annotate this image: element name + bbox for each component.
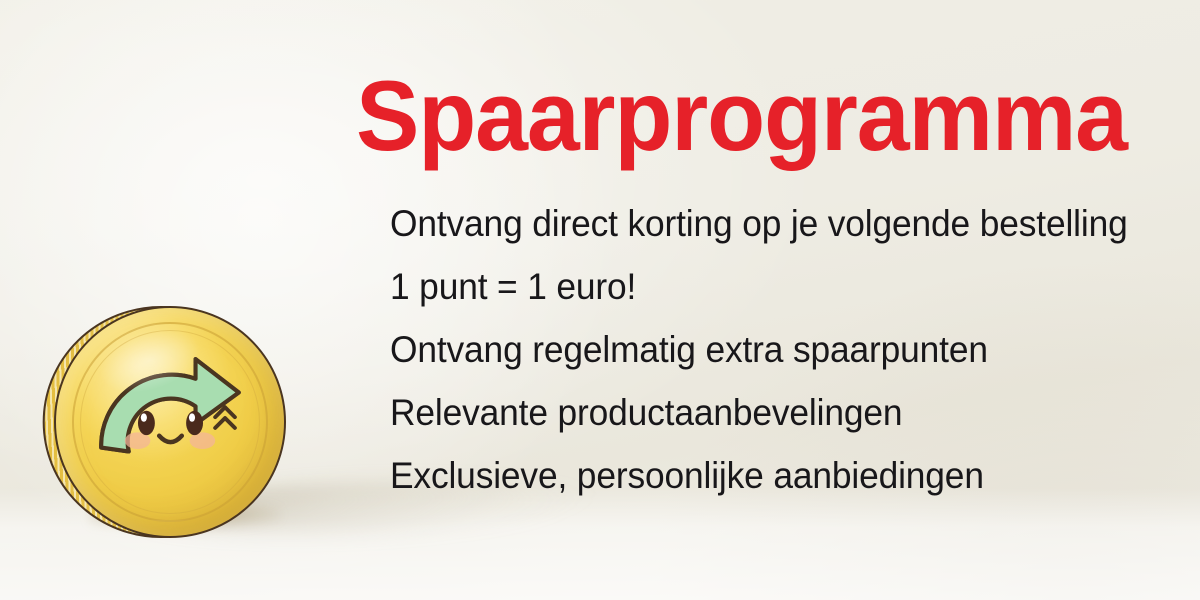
coin-face-right-eye [186,411,203,435]
list-item: 1 punt = 1 euro! [390,255,1144,318]
benefits-list: Ontvang direct korting op je volgende be… [390,192,1180,507]
list-item: Ontvang direct korting op je volgende be… [390,192,1144,255]
coin-illustration [46,300,296,545]
promo-banner: Spaarprogramma Ontvang direct korting op… [0,0,1200,600]
list-item: Ontvang regelmatig extra spaarpunten [390,318,1144,381]
page-title: Spaarprogramma [356,66,1127,165]
recycle-arrow-lower [101,359,239,451]
coin [54,306,286,538]
list-item: Exclusieve, persoonlijke aanbiedingen [390,444,1144,507]
coin-face-left-eye [138,411,155,435]
coin-artwork [56,308,284,536]
chevron-sparkle [215,407,235,428]
list-item: Relevante productaanbevelingen [390,381,1144,444]
coin-face-smile [159,436,182,442]
coin-face-plate [54,306,286,538]
